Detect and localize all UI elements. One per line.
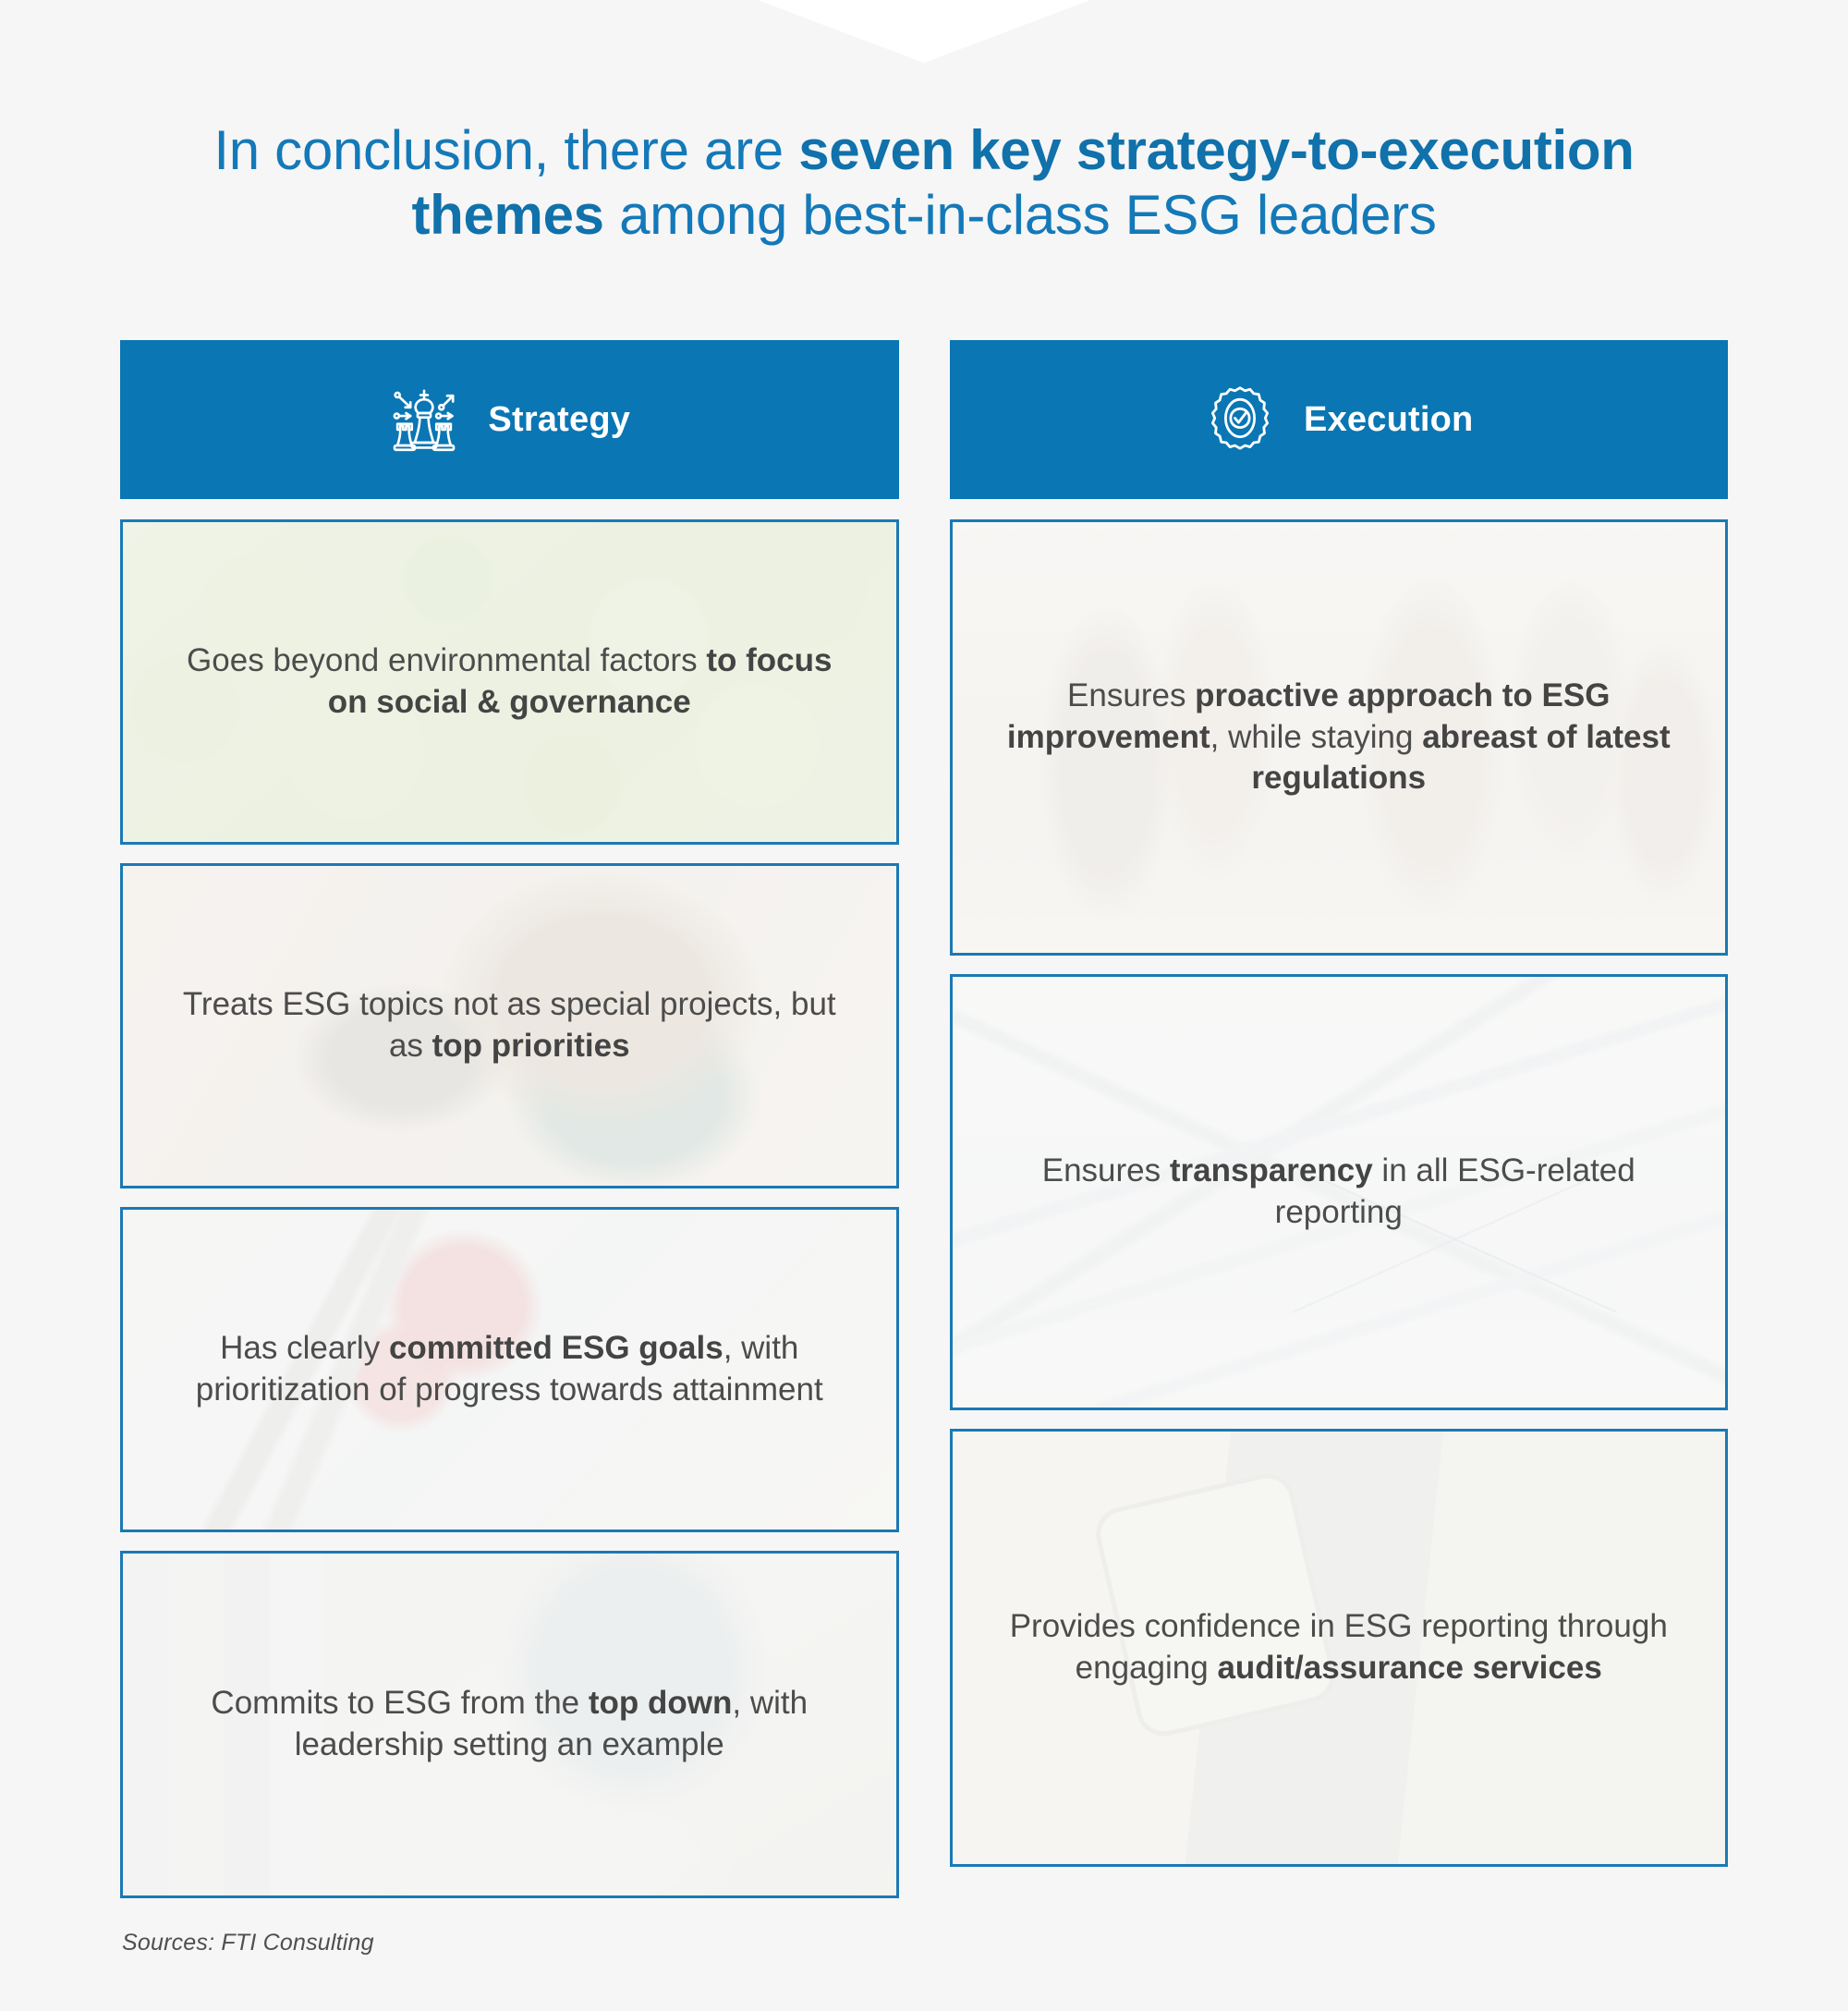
card-text-normal: Goes beyond environmental factors [187, 642, 698, 678]
cards-strategy: Goes beyond environmental factors to foc… [120, 519, 899, 1898]
card-text-bold: top priorities [432, 1028, 630, 1064]
strategy-card-4-text: Commits to ESG from the top down, with l… [123, 1683, 896, 1766]
execution-card-1[interactable]: Ensures proactive approach to ESG improv… [950, 519, 1729, 956]
strategy-card-3-text: Has clearly committed ESG goals, with pr… [123, 1328, 896, 1411]
sources-note: Sources: FTI Consulting [122, 1930, 374, 1956]
card-text-normal-2: , while staying [1210, 719, 1423, 755]
cards-execution: Ensures proactive approach to ESG improv… [950, 519, 1729, 1898]
card-text-normal: Ensures [1067, 677, 1195, 713]
strategy-card-1-text: Goes beyond environmental factors to foc… [123, 640, 896, 724]
strategy-card-3[interactable]: Has clearly committed ESG goals, with pr… [120, 1207, 899, 1532]
card-text-normal: Has clearly [220, 1330, 389, 1366]
column-header-strategy: Strategy [120, 340, 899, 499]
card-text-bold: top down [589, 1685, 733, 1721]
gear-check-icon [1204, 384, 1276, 456]
execution-card-3-text: Provides confidence in ESG reporting thr… [953, 1606, 1726, 1689]
card-text-bold: audit/assurance services [1217, 1650, 1601, 1686]
page-title: In conclusion, there are seven key strat… [166, 118, 1682, 247]
execution-card-1-text: Ensures proactive approach to ESG improv… [953, 676, 1726, 799]
column-execution: Execution Ensures proactive approach to … [950, 340, 1729, 1898]
column-strategy: Strategy Goes beyond environmental facto… [120, 340, 899, 1898]
column-header-execution: Execution [950, 340, 1729, 499]
page-title-part1: In conclusion, there are [213, 119, 798, 181]
strategy-card-1[interactable]: Goes beyond environmental factors to foc… [120, 519, 899, 845]
execution-card-2-text: Ensures transparency in all ESG-related … [953, 1151, 1726, 1234]
column-header-label-strategy: Strategy [488, 400, 630, 440]
strategy-card-2[interactable]: Treats ESG topics not as special project… [120, 863, 899, 1188]
card-text-bold: committed ESG goals [389, 1330, 723, 1366]
card-text-normal: Commits to ESG from the [211, 1685, 588, 1721]
chess-pieces-icon [388, 384, 460, 456]
card-text-bold: transparency [1170, 1152, 1373, 1188]
strategy-card-4[interactable]: Commits to ESG from the top down, with l… [120, 1551, 899, 1898]
card-text-normal: Ensures [1042, 1152, 1170, 1188]
execution-card-2[interactable]: Ensures transparency in all ESG-related … [950, 974, 1729, 1410]
execution-card-3[interactable]: Provides confidence in ESG reporting thr… [950, 1429, 1729, 1867]
page-title-part2: among best-in-class ESG leaders [604, 184, 1437, 246]
columns-container: Strategy Goes beyond environmental facto… [120, 340, 1728, 1898]
top-notch-triangle [758, 0, 1090, 63]
strategy-card-2-text: Treats ESG topics not as special project… [123, 984, 896, 1067]
column-header-label-execution: Execution [1304, 400, 1473, 440]
